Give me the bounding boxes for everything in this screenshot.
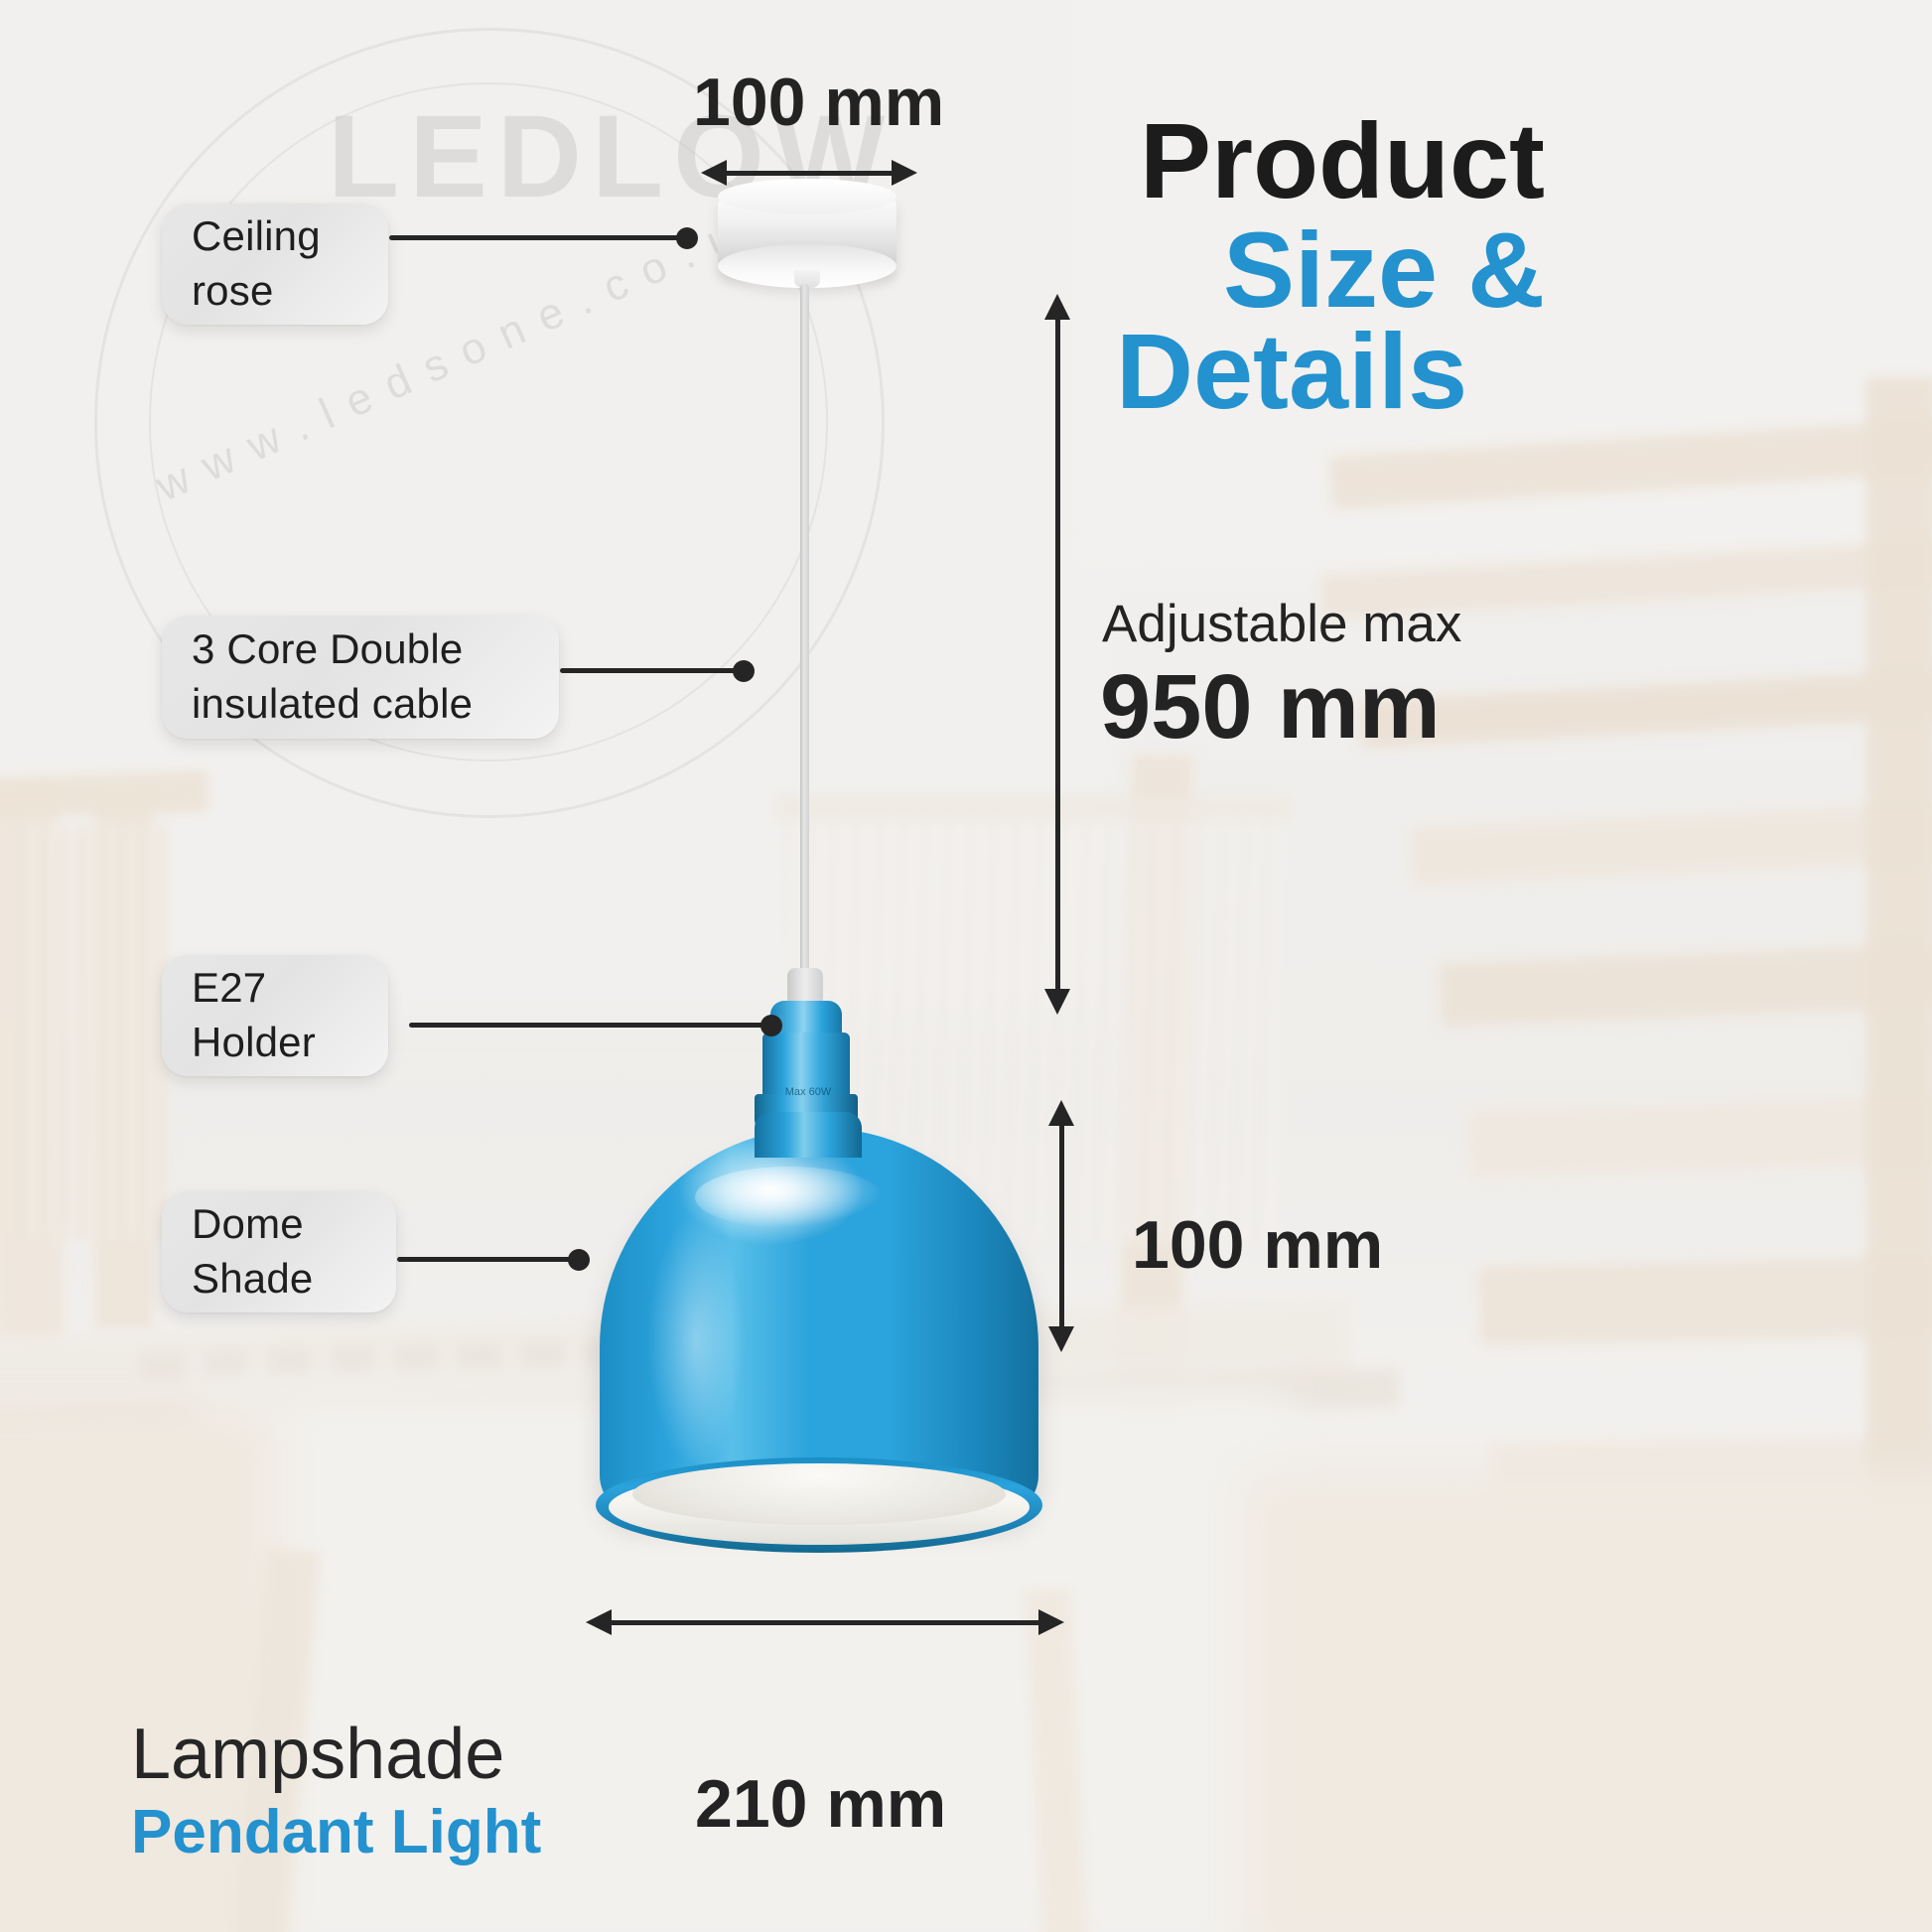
dome-specular-highlight	[695, 1167, 884, 1228]
dim-shade-height-line	[1059, 1122, 1064, 1328]
dim-rose-width-line	[725, 171, 894, 176]
leader-dot-dome-shade	[568, 1249, 590, 1271]
brand-line-pendant-light: Pendant Light	[131, 1797, 541, 1867]
pendant-cord	[800, 284, 809, 999]
leader-dot-ceiling-rose	[676, 227, 698, 249]
header-line-product: Product	[1140, 107, 1545, 214]
leader-cable	[560, 668, 739, 673]
callout-holder[interactable]: E27 Holder	[162, 955, 388, 1076]
callout-cable[interactable]: 3 Core Double insulated cable	[162, 616, 559, 739]
dim-shade-height-label: 100 mm	[1132, 1206, 1383, 1284]
leader-holder	[409, 1023, 766, 1028]
dim-shade-diameter-label: 210 mm	[695, 1765, 946, 1843]
leader-dot-cable	[733, 660, 755, 682]
dim-drop-value: 950 mm	[1100, 655, 1441, 759]
callout-cable-line1: 3 Core Double	[192, 622, 529, 677]
dim-shade-height-arrow-up	[1048, 1100, 1074, 1126]
brand-line-lampshade: Lampshade	[131, 1714, 504, 1795]
dim-rose-width-arrow-left	[701, 160, 727, 186]
leader-dot-holder	[760, 1015, 782, 1036]
callout-dome-shade-line1: Dome	[192, 1197, 366, 1252]
callout-ceiling-rose-line2: rose	[192, 264, 358, 319]
leader-dome-shade	[397, 1257, 576, 1262]
ceiling-rose-top-ellipse	[718, 179, 897, 214]
callout-ceiling-rose-line1: Ceiling	[192, 209, 358, 264]
dome-inner-cavity	[632, 1463, 1006, 1525]
callout-holder-line1: E27	[192, 961, 358, 1016]
dim-drop-arrow-down	[1044, 989, 1070, 1015]
dim-rose-width-label: 100 mm	[693, 64, 944, 141]
dim-drop-line	[1055, 316, 1060, 991]
callout-dome-shade-line2: Shade	[192, 1252, 366, 1307]
dim-shade-diameter-arrow-left	[586, 1609, 612, 1635]
holder-rating-text: Max 60W	[760, 1086, 856, 1102]
dim-drop-caption: Adjustable max	[1102, 594, 1461, 654]
callout-holder-line2: Holder	[192, 1016, 358, 1070]
leader-ceiling-rose	[389, 235, 687, 240]
dim-shade-diameter-line	[610, 1620, 1040, 1625]
dim-rose-width-arrow-right	[892, 160, 917, 186]
dim-drop-arrow-up	[1044, 294, 1070, 320]
infographic-canvas: LEDLOW w w w . l e d s o n e . c o . u k…	[0, 0, 1932, 1932]
callout-ceiling-rose[interactable]: Ceiling rose	[162, 204, 388, 325]
callout-cable-line2: insulated cable	[192, 677, 529, 732]
header-line-size: Size &	[1223, 216, 1545, 324]
dim-shade-height-arrow-down	[1048, 1326, 1074, 1352]
dim-shade-diameter-arrow-right	[1038, 1609, 1064, 1635]
dome-crown	[755, 1112, 862, 1158]
callout-dome-shade[interactable]: Dome Shade	[162, 1191, 396, 1312]
header-line-details: Details	[1116, 318, 1467, 425]
